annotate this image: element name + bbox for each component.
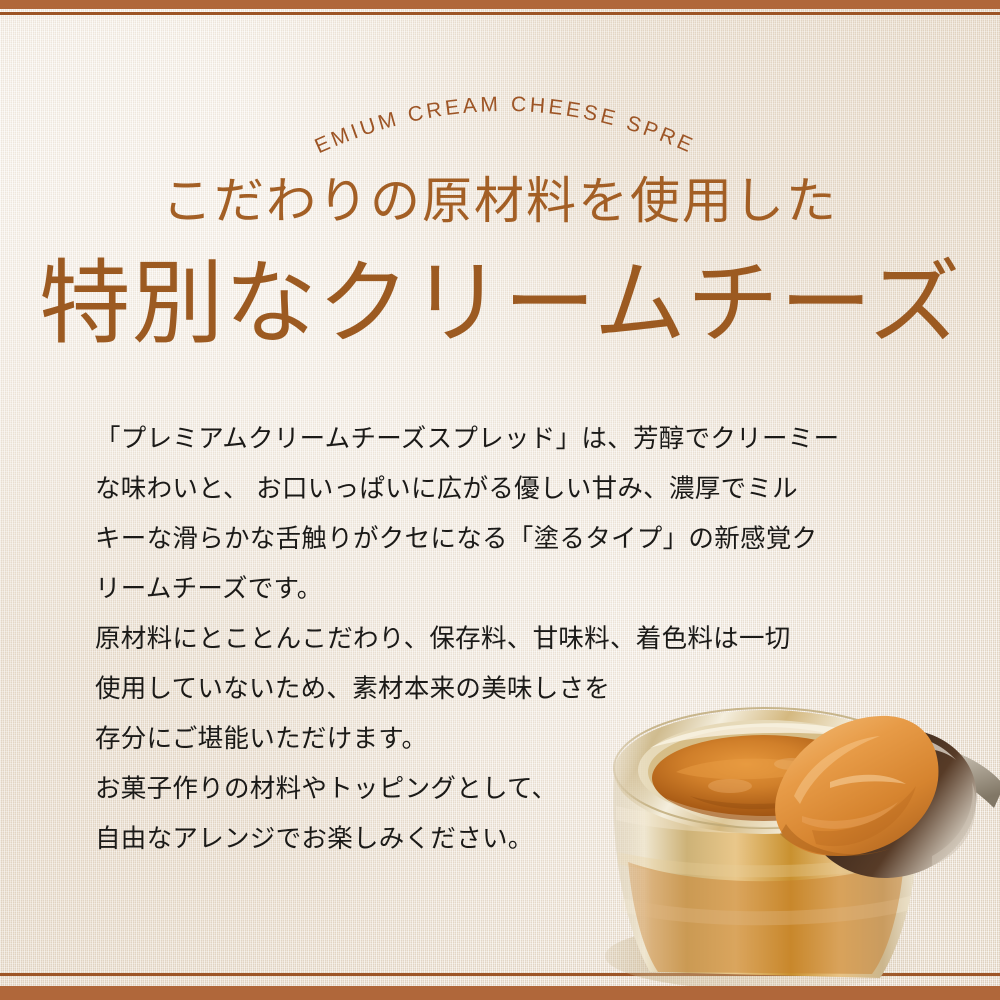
body-line: 存分にご堪能いただけます。	[95, 714, 935, 764]
body-copy-block: 「プレミアムクリームチーズスプレッド」は、芳醇でクリーミー な味わいと、 お口い…	[95, 414, 935, 864]
body-paragraph-1: 「プレミアムクリームチーズスプレッド」は、芳醇でクリーミー な味わいと、 お口い…	[95, 414, 935, 614]
body-line: 原材料にとことんこだわり、保存料、甘味料、着色料は一切	[95, 614, 935, 664]
body-line: リームチーズです。	[95, 564, 935, 614]
body-line: お菓子作りの材料やトッピングとして、	[95, 764, 935, 814]
body-paragraph-2: 原材料にとことんこだわり、保存料、甘味料、着色料は一切 使用していないため、素材…	[95, 614, 935, 764]
body-paragraph-3: お菓子作りの材料やトッピングとして、 自由なアレンジでお楽しみください。	[95, 764, 935, 864]
promo-page: PREMIUM CREAM CHEESE SPREAD こだわりの原材料を使用し…	[0, 0, 1000, 1000]
heading-subtitle: こだわりの原材料を使用した	[0, 176, 1000, 226]
body-line: 「プレミアムクリームチーズスプレッド」は、芳醇でクリーミー	[95, 414, 935, 464]
body-line: 使用していないため、素材本来の美味しさを	[95, 664, 935, 714]
body-line: な味わいと、 お口いっぱいに広がる優しい甘み、濃厚でミル	[95, 464, 935, 514]
heading-title: 特別なクリームチーズ	[0, 258, 1000, 350]
body-line: キーな滑らかな舌触りがクセになる「塗るタイプ」の新感覚ク	[95, 514, 935, 564]
body-line: 自由なアレンジでお楽しみください。	[95, 814, 935, 864]
